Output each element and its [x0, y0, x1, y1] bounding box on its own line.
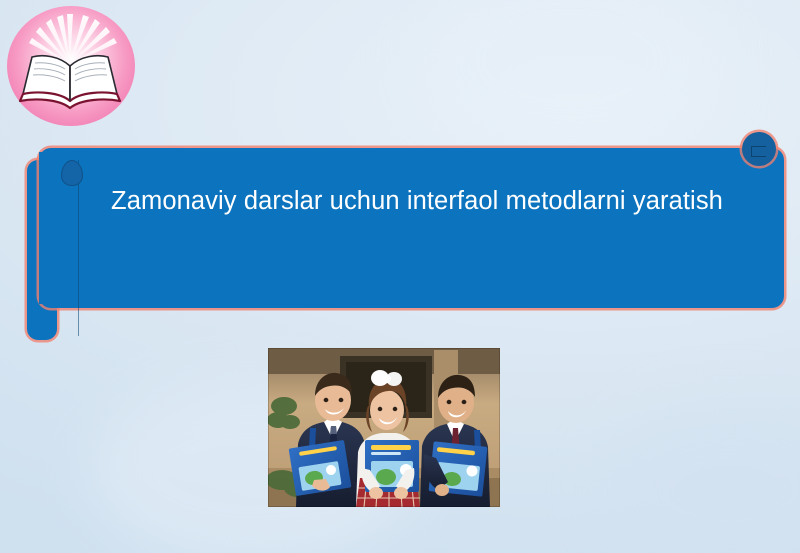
school-children-photo — [268, 348, 500, 507]
banner-panel — [39, 148, 784, 308]
banner-top-left-curl-icon — [61, 160, 83, 186]
open-book-icon — [7, 6, 135, 126]
background-blob-top — [420, 0, 720, 160]
presentation-slide: Zamonaviy darslar uchun interfaol metodl… — [0, 0, 800, 553]
open-book-emblem — [7, 6, 135, 126]
background-blob-right — [600, 400, 800, 553]
school-children-illustration — [268, 348, 500, 507]
banner-fold-line — [78, 160, 79, 336]
banner-seam-fill — [39, 152, 63, 304]
banner-top-right-curl-icon — [742, 132, 776, 166]
slide-title: Zamonaviy darslar uchun interfaol metodl… — [87, 182, 747, 220]
